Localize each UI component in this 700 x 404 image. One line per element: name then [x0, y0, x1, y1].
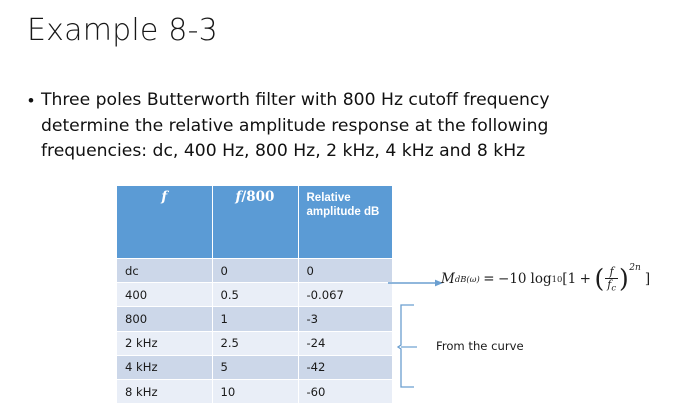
butterworth-formula: MdB(ω) = −10 log10 [ 1 + ( f fc ) 2n ]: [441, 266, 650, 292]
frequency-response-table: f f/800 Relative amplitude dB dc 0 0 400…: [117, 186, 392, 404]
bullet-marker-icon: •: [28, 88, 34, 113]
bullet-text: Three poles Butterworth filter with 800 …: [41, 88, 638, 165]
f-over-fc-fraction: f fc: [605, 266, 618, 292]
cell-frequency: 400: [117, 283, 212, 307]
cell-ratio: 1: [212, 307, 298, 331]
cell-ratio: 0.5: [212, 283, 298, 307]
column-header-relative-amplitude: Relative amplitude dB: [298, 186, 392, 259]
table-header-row: f f/800 Relative amplitude dB: [117, 186, 392, 259]
cell-frequency: 800: [117, 307, 212, 331]
bullet-paragraph: • Three poles Butterworth filter with 80…: [28, 88, 638, 165]
from-curve-label: From the curve: [436, 339, 524, 353]
cell-ratio: 2.5: [212, 331, 298, 355]
right-paren: ): [619, 270, 629, 288]
table-row: 4 kHz 5 -42: [117, 355, 392, 379]
formula-arrow-icon: [388, 276, 444, 290]
page-title: Example 8-3: [27, 13, 218, 48]
table-row: dc 0 0: [117, 259, 392, 283]
table-body: dc 0 0 400 0.5 -0.067 800 1 -3 2 kHz 2.5…: [117, 259, 392, 404]
column-header-ratio: f/800: [212, 186, 298, 259]
table-row: 800 1 -3: [117, 307, 392, 331]
cell-frequency: 2 kHz: [117, 331, 212, 355]
cell-ratio: 0: [212, 259, 298, 283]
cell-ratio: 5: [212, 355, 298, 379]
cell-frequency: 4 kHz: [117, 355, 212, 379]
cell-db: -42: [298, 355, 392, 379]
cell-frequency: dc: [117, 259, 212, 283]
formula-fraction-group: ( f fc ) 2n: [594, 266, 640, 292]
table-row: 400 0.5 -0.067: [117, 283, 392, 307]
slide-canvas: Example 8-3 • Three poles Butterworth fi…: [0, 0, 700, 400]
from-curve-brace-icon: [396, 303, 438, 389]
cell-db: 0: [298, 259, 392, 283]
left-paren: (: [594, 270, 604, 288]
formula-exponent: 2n: [629, 263, 641, 273]
table-row: 2 kHz 2.5 -24: [117, 331, 392, 355]
cell-db: -0.067: [298, 283, 392, 307]
cell-db: -3: [298, 307, 392, 331]
column-header-frequency: f: [117, 186, 212, 259]
cell-db: -24: [298, 331, 392, 355]
